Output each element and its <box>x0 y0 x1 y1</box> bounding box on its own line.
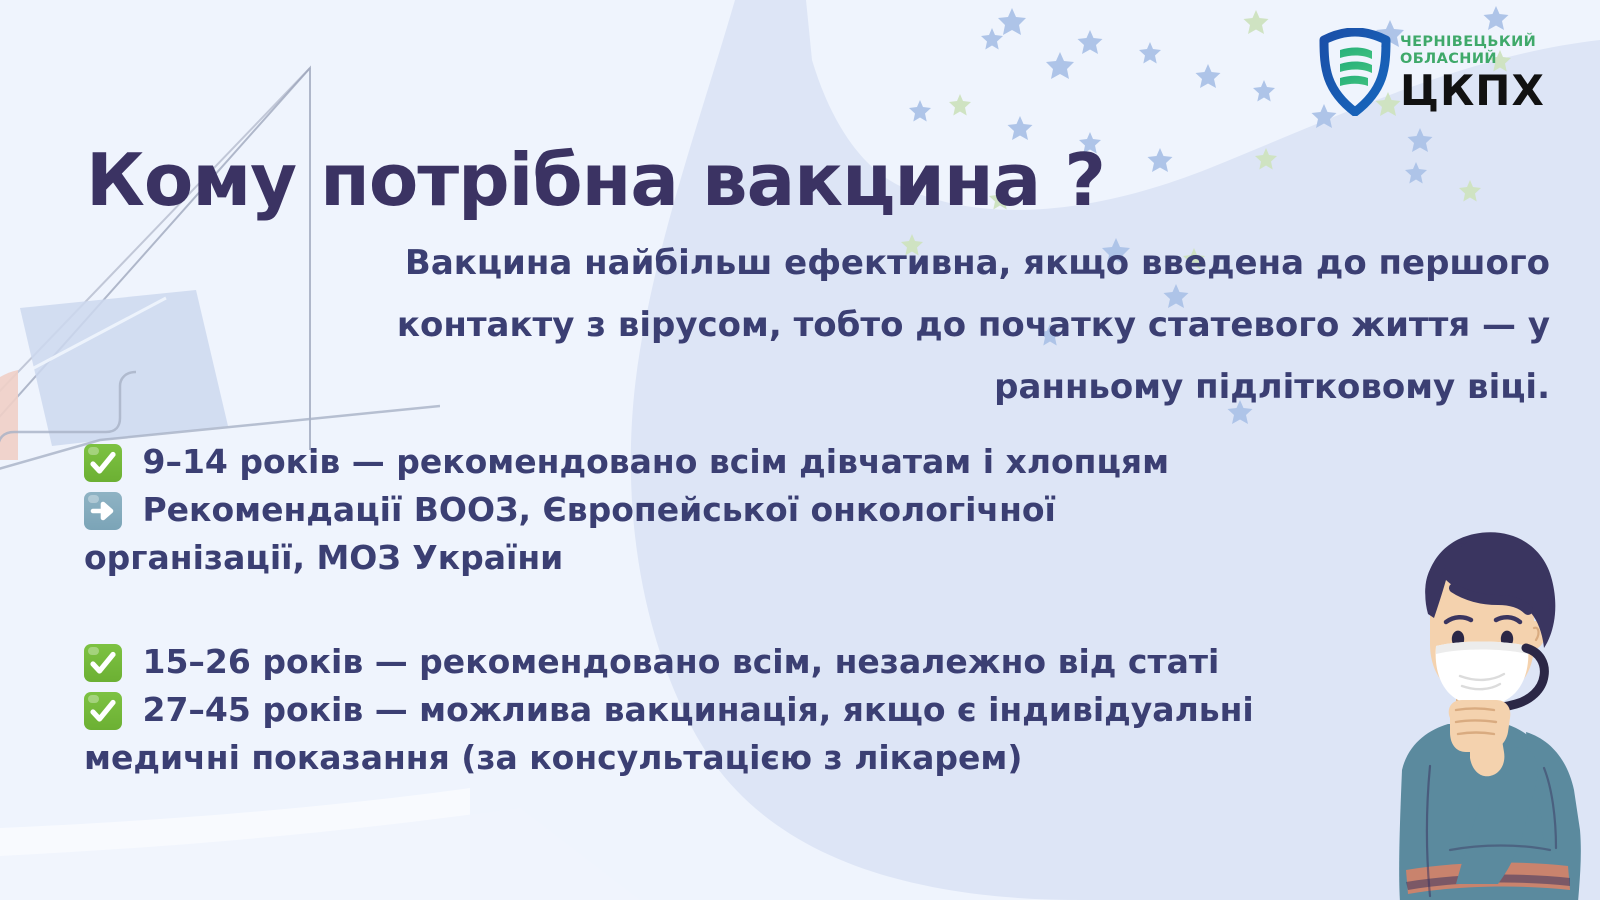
logo-line-1: ЧЕРНІВЕЦЬКИЙ <box>1400 35 1545 50</box>
list-item-text: 9–14 років — рекомендовано всім дівчатам… <box>131 442 1169 481</box>
list-item-continuation: медичні показання (за консультацією з лі… <box>84 734 1424 782</box>
list-item: 9–14 років — рекомендовано всім дівчатам… <box>84 438 1424 486</box>
list-item: 15–26 років — рекомендовано всім, незале… <box>84 638 1424 686</box>
check-mark-button-icon <box>84 692 122 730</box>
check-mark-button-icon <box>84 644 122 682</box>
logo-abbreviation: ЦКПХ <box>1400 70 1545 112</box>
list-item: 27–45 років — можлива вакцинація, якщо є… <box>84 686 1424 734</box>
recommendation-block-2: 15–26 років — рекомендовано всім, незале… <box>84 638 1424 782</box>
list-item-text: 15–26 років — рекомендовано всім, незале… <box>131 642 1219 681</box>
list-item-text: Рекомендації ВООЗ, Європейської онкологі… <box>131 490 1056 529</box>
check-mark-button-icon <box>84 444 122 482</box>
logo-line-2: ОБЛАСНИЙ <box>1400 52 1545 67</box>
subtitle-paragraph: Вакцина найбільш ефективна, якщо введена… <box>255 232 1550 418</box>
list-item-text: організації, МОЗ України <box>84 538 563 577</box>
list-item: Рекомендації ВООЗ, Європейської онкологі… <box>84 486 1424 534</box>
slide-canvas: ЧЕРНІВЕЦЬКИЙ ОБЛАСНИЙ ЦКПХ Кому потрібна… <box>0 0 1600 900</box>
logo[interactable]: ЧЕРНІВЕЦЬКИЙ ОБЛАСНИЙ ЦКПХ <box>1318 22 1598 122</box>
list-item-text: 27–45 років — можлива вакцинація, якщо є… <box>131 690 1254 729</box>
logo-text: ЧЕРНІВЕЦЬКИЙ ОБЛАСНИЙ ЦКПХ <box>1400 33 1545 112</box>
recommendation-block-1: 9–14 років — рекомендовано всім дівчатам… <box>84 438 1424 582</box>
masked-young-man-illustration <box>1330 518 1600 900</box>
right-arrow-icon <box>84 492 122 530</box>
page-title: Кому потрібна вакцина ? <box>86 144 1206 216</box>
shield-icon <box>1318 28 1392 116</box>
list-item-text: медичні показання (за консультацією з лі… <box>84 738 1022 777</box>
list-item-continuation: організації, МОЗ України <box>84 534 1424 582</box>
